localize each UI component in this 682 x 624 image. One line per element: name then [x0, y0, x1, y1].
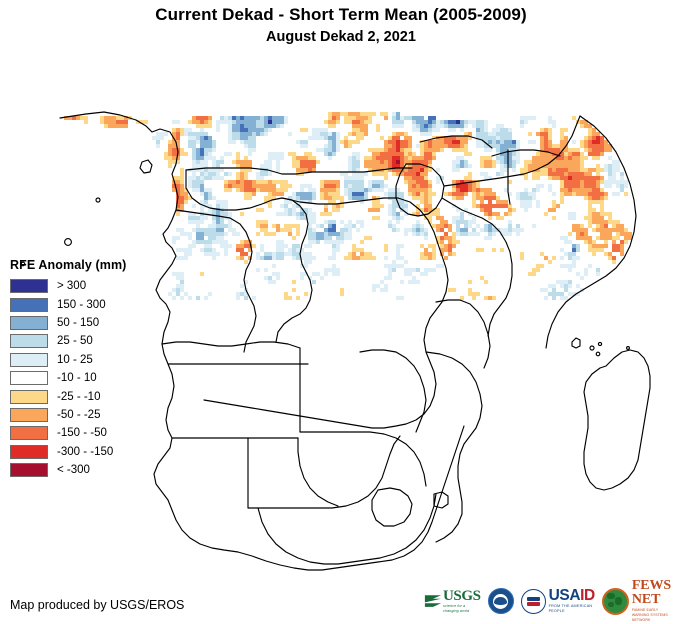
legend-label: -150 - -50	[57, 426, 107, 440]
legend-row: 10 - 25	[8, 351, 158, 369]
legend-swatch	[10, 334, 48, 348]
noaa-logo	[488, 584, 514, 618]
legend-label: -10 - 10	[57, 371, 97, 385]
usgs-wave-icon	[424, 593, 442, 610]
legend-label: 10 - 25	[57, 353, 93, 367]
legend-swatch	[10, 371, 48, 385]
page-subtitle: August Dekad 2, 2021	[0, 27, 682, 47]
legend-swatch	[10, 426, 48, 440]
usaid-word-primary: USA	[549, 587, 581, 604]
usaid-logo: USAID FROM THE AMERICAN PEOPLE	[521, 584, 595, 618]
legend-row: -50 - -25	[8, 406, 158, 424]
legend-swatch	[10, 298, 48, 312]
legend-row: 50 - 150	[8, 314, 158, 332]
fews-net-logo: FEWS NET FAMINE EARLY WARNING SYSTEMS NE…	[602, 584, 676, 618]
page-title: Current Dekad - Short Term Mean (2005-20…	[0, 4, 682, 26]
fews-tagline: FAMINE EARLY WARNING SYSTEMS NETWORK	[632, 608, 676, 623]
title-block: Current Dekad - Short Term Mean (2005-20…	[0, 4, 682, 47]
legend-label: 50 - 150	[57, 316, 99, 330]
legend-rows: > 300150 - 30050 - 15025 - 5010 - 25-10 …	[8, 277, 158, 479]
usaid-seal-icon	[521, 589, 546, 614]
usaid-wordmark: USAID	[549, 588, 595, 603]
usaid-word-accent: ID	[580, 587, 595, 604]
legend-row: > 300	[8, 277, 158, 295]
legend-label: -300 - -150	[57, 445, 113, 459]
fews-globe-icon	[602, 588, 629, 615]
credit-text: Map produced by USGS/EROS	[10, 598, 184, 612]
legend-row: -300 - -150	[8, 443, 158, 461]
legend-swatch	[10, 390, 48, 404]
legend-row: -150 - -50	[8, 424, 158, 442]
legend-title: RFE Anomaly (mm)	[10, 258, 158, 272]
fews-wordmark: FEWS NET	[632, 579, 676, 607]
legend-swatch	[10, 353, 48, 367]
legend-label: 25 - 50	[57, 334, 93, 348]
legend-row: < -300	[8, 461, 158, 479]
legend-label: 150 - 300	[57, 298, 106, 312]
usaid-tagline: FROM THE AMERICAN PEOPLE	[549, 604, 595, 614]
usgs-tagline: science for a changing world	[443, 604, 481, 614]
legend-swatch	[10, 316, 48, 330]
noaa-badge-icon	[488, 588, 514, 614]
legend-label: < -300	[57, 463, 90, 477]
legend-swatch	[10, 408, 48, 422]
legend-label: > 300	[57, 279, 86, 293]
legend-row: -10 - 10	[8, 369, 158, 387]
legend-row: 150 - 300	[8, 295, 158, 313]
legend-swatch	[10, 445, 48, 459]
usgs-wordmark: USGS	[443, 589, 481, 604]
logo-bar: USGS science for a changing world USAID …	[424, 583, 676, 619]
map-legend: RFE Anomaly (mm) > 300150 - 30050 - 1502…	[8, 258, 158, 479]
usgs-logo: USGS science for a changing world	[424, 584, 481, 618]
legend-row: -25 - -10	[8, 387, 158, 405]
legend-row: 25 - 50	[8, 332, 158, 350]
legend-label: -50 - -25	[57, 408, 100, 422]
legend-swatch	[10, 279, 48, 293]
legend-swatch	[10, 463, 48, 477]
legend-label: -25 - -10	[57, 390, 100, 404]
